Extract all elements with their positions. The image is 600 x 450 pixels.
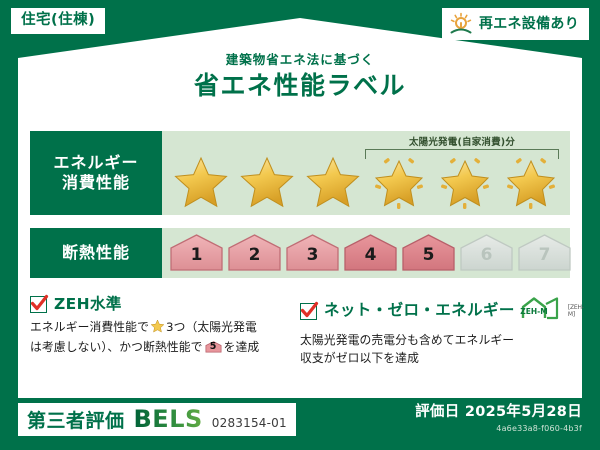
- insulation-performance-body: 1 2 3 4: [162, 228, 570, 278]
- insulation-level-3: 3: [284, 233, 341, 273]
- star-4-solar: [366, 151, 432, 213]
- insulation-level-4-num: 4: [365, 247, 377, 273]
- star-5-solar: [432, 151, 498, 213]
- insulation-level-7-num: 7: [539, 247, 551, 273]
- bels-en-label: BELS: [134, 407, 203, 431]
- insulation-performance-row: 断熱性能: [30, 228, 570, 278]
- energy-performance-row: エネルギー 消費性能 太陽光発電(自家消費)分: [30, 131, 570, 215]
- star-6-solar: [498, 151, 564, 213]
- insulation-level-scale: 1 2 3 4: [168, 232, 574, 274]
- insulation-level-6: 6: [458, 233, 515, 273]
- solar-bracket-label: 太陽光発電(自家消費)分: [342, 134, 582, 148]
- criterion-zeh-description: エネルギー消費性能で3つ（太陽光発電 は考慮しない）、かつ断熱性能で5を達成: [30, 318, 294, 357]
- insulation-level-3-num: 3: [307, 247, 319, 273]
- svg-text:ZEH-M: ZEH-M: [520, 307, 547, 316]
- zeh-desc-star-count: 3つ（太陽光発電: [166, 320, 257, 334]
- bels-evaluation-box: 第三者評価 BELS 0283154-01: [18, 403, 296, 436]
- zeh-m-logo-tag: [ZEH-M]: [568, 304, 584, 318]
- evaluation-date-label: 評価日: [415, 404, 459, 420]
- insulation-level-1: 1: [168, 233, 225, 273]
- housing-type-tag: 住宅(住棟): [11, 8, 105, 34]
- title-main: 省エネ性能ラベル: [0, 70, 600, 101]
- criterion-zeh-head: ZEH水準: [30, 296, 294, 313]
- evaluation-meta: 評価日 2025年5月28日 4a6e33a8-f060-4b3f: [415, 405, 582, 434]
- energy-performance-head: エネルギー 消費性能: [30, 131, 162, 215]
- renewable-badge-label: 再エネ設備あり: [479, 17, 579, 31]
- star-rating: [168, 151, 566, 213]
- star-3: [300, 151, 366, 213]
- insulation-level-1-num: 1: [191, 247, 203, 273]
- insulation-performance-head: 断熱性能: [30, 228, 162, 278]
- checkbox-checked-icon: [300, 303, 317, 320]
- insulation-level-5-num: 5: [423, 247, 435, 273]
- title-subtitle: 建築物省エネ法に基づく: [0, 52, 600, 67]
- evaluation-date-value: 2025年5月28日: [465, 404, 582, 420]
- insulation-level-6-num: 6: [481, 247, 493, 273]
- evaluation-date: 評価日 2025年5月28日: [415, 405, 582, 421]
- bels-number: 0283154-01: [212, 417, 287, 429]
- star-1: [168, 151, 234, 213]
- criterion-nze-head: ネット・ゼロ・エネルギー ZEH-M [ZEH-M]: [300, 296, 564, 326]
- renewable-equipment-badge: 再エネ設備あり: [442, 8, 589, 40]
- criterion-nze-description: 太陽光発電の売電分も含めてエネルギー 収支がゼロ以下を達成: [300, 331, 564, 368]
- star-2: [234, 151, 300, 213]
- energy-label-root: 住宅(住棟) 再エネ設備あり 建築物省エネ法に基づく 省エネ性能ラベル: [0, 0, 600, 450]
- criteria-section: ZEH水準 エネルギー消費性能で3つ（太陽光発電 は考慮しない）、かつ断熱性能で…: [30, 296, 570, 368]
- label-title-block: 建築物省エネ法に基づく 省エネ性能ラベル: [0, 52, 600, 101]
- nze-desc-line1: 太陽光発電の売電分も含めてエネルギー: [300, 333, 514, 347]
- zeh-desc-part1: エネルギー消費性能で: [30, 320, 149, 334]
- criterion-nze: ネット・ゼロ・エネルギー ZEH-M [ZEH-M] 太陽光発電の売電分も含めて…: [300, 296, 570, 368]
- insulation-level-2: 2: [226, 233, 283, 273]
- criterion-zeh-title: ZEH水準: [54, 297, 122, 313]
- energy-performance-body: 太陽光発電(自家消費)分: [162, 131, 570, 215]
- energy-head-line1: エネルギー: [53, 153, 138, 173]
- evaluation-id: 4a6e33a8-f060-4b3f: [415, 423, 582, 434]
- criterion-nze-title: ネット・ゼロ・エネルギー: [324, 303, 515, 319]
- insulation-level-7: 7: [516, 233, 573, 273]
- checkbox-checked-icon: [30, 296, 47, 313]
- sun-icon: [448, 12, 474, 36]
- energy-head-line2: 消費性能: [62, 173, 130, 193]
- inline-house-badge-num: 5: [205, 342, 222, 352]
- bels-jp-label: 第三者評価: [27, 412, 125, 431]
- insulation-level-5: 5: [400, 233, 457, 273]
- criterion-zeh: ZEH水準 エネルギー消費性能で3つ（太陽光発電 は考慮しない）、かつ断熱性能で…: [30, 296, 300, 368]
- nze-desc-line2: 収支がゼロ以下を達成: [300, 351, 419, 365]
- insulation-level-2-num: 2: [249, 247, 261, 273]
- zeh-m-logo-icon: ZEH-M: [520, 296, 560, 326]
- zeh-desc-part2: は考慮しない）、かつ断熱性能で: [30, 340, 203, 354]
- insulation-level-4: 4: [342, 233, 399, 273]
- inline-star-icon: [150, 322, 165, 336]
- insulation-head-line1: 断熱性能: [62, 243, 130, 263]
- inline-house-badge-icon: 5: [205, 340, 222, 354]
- solar-bracket: [365, 149, 559, 159]
- zeh-desc-part3: を達成: [224, 340, 260, 354]
